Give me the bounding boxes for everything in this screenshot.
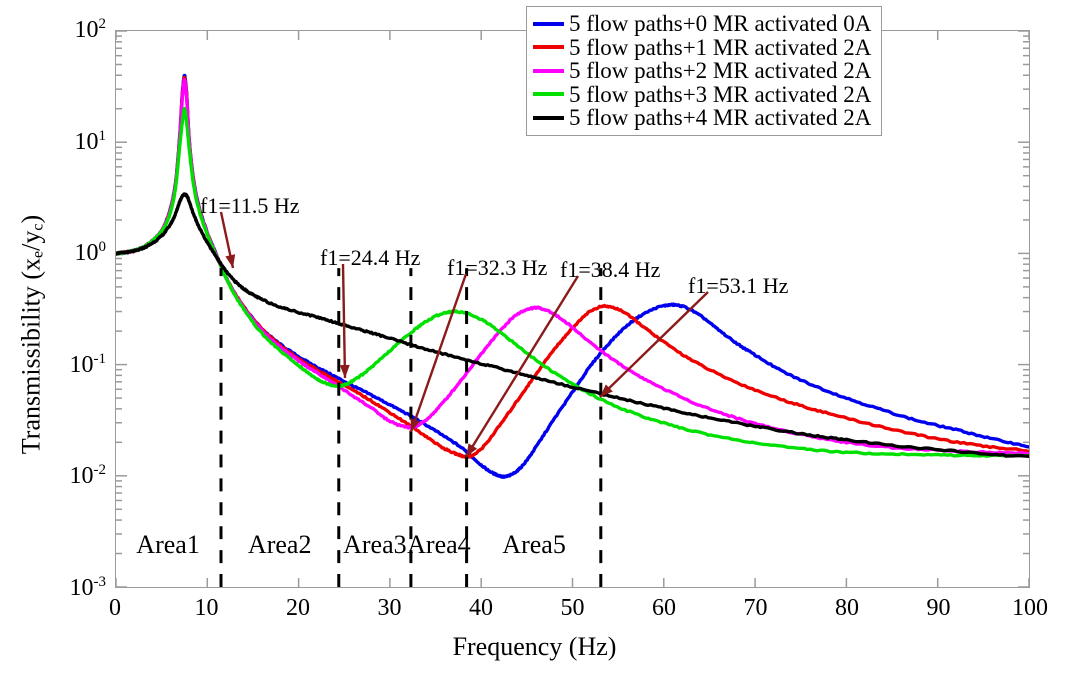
area-label-1: Area1 [136,532,200,558]
annotation-label-3: f1=38.4 Hz [560,259,660,281]
y-tick-label-4: 10-2 [50,463,106,488]
annotation-label-2: f1=32.3 Hz [447,257,547,279]
legend-item-0[interactable]: 5 flow paths+0 MR activated 0A [533,12,871,36]
x-axis-ticks: 0102030405060708090100 [0,596,1069,632]
y-tick-exponent: 1 [99,128,107,144]
y-tick-exponent: -2 [94,462,107,478]
legend-swatch-2 [533,69,564,73]
area-label-4: Area4 [407,532,471,558]
y-axis-label: Transmissibility (xe/yc) [17,135,48,535]
y-axis-label-end: ) [17,215,46,224]
x-tick-label-2: 20 [286,596,310,620]
chart-figure: Transmissibility (xe/yc) 10210110010-110… [0,0,1069,678]
x-tick-label-10: 100 [1012,596,1048,620]
legend-swatch-0 [533,22,564,26]
y-axis-label-sub-e: e [30,251,47,258]
legend-item-2[interactable]: 5 flow paths+2 MR activated 2A [533,59,871,83]
x-tick-label-3: 30 [378,596,402,620]
y-tick-label-3: 10-1 [50,352,106,377]
legend-label-3: 5 flow paths+3 MR activated 2A [569,83,871,106]
y-axis-label-sub-c: c [30,223,47,230]
annotation-label-0: f1=11.5 Hz [200,195,300,217]
x-axis-label: Frequency (Hz) [0,632,1069,662]
x-tick-label-0: 0 [109,596,121,620]
legend-item-3[interactable]: 5 flow paths+3 MR activated 2A [533,83,871,107]
y-tick-label-0: 102 [50,17,106,42]
legend: 5 flow paths+0 MR activated 0A5 flow pat… [526,6,882,136]
x-tick-label-1: 10 [195,596,219,620]
y-tick-label-1: 101 [50,129,106,154]
y-tick-label-2: 100 [50,240,106,265]
legend-label-4: 5 flow paths+4 MR activated 2A [569,106,871,129]
legend-swatch-4 [533,116,564,120]
legend-label-1: 5 flow paths+1 MR activated 2A [569,36,871,59]
area-label-3: Area3 [343,532,407,558]
x-tick-label-5: 50 [561,596,585,620]
legend-item-4[interactable]: 5 flow paths+4 MR activated 2A [533,106,871,130]
x-tick-label-7: 70 [744,596,768,620]
series-line-3 [116,109,1029,457]
y-tick-exponent: 2 [99,16,107,32]
legend-label-0: 5 flow paths+0 MR activated 0A [569,12,871,35]
legend-swatch-3 [533,92,564,96]
area-label-5: Area5 [502,532,566,558]
annotation-label-1: f1=24.4 Hz [320,247,420,269]
legend-item-1[interactable]: 5 flow paths+1 MR activated 2A [533,36,871,60]
y-tick-exponent: -3 [94,574,107,590]
legend-swatch-1 [533,45,564,49]
annotation-label-4: f1=53.1 Hz [688,275,788,297]
y-tick-exponent: 0 [99,239,107,255]
x-tick-label-6: 60 [652,596,676,620]
y-axis-label-text: Transmissibility (x [17,258,46,454]
area-label-2: Area2 [248,532,312,558]
y-tick-exponent: -1 [94,351,107,367]
x-tick-label-8: 80 [835,596,859,620]
legend-label-2: 5 flow paths+2 MR activated 2A [569,59,871,82]
y-axis-label-mid: /y [17,231,46,251]
y-axis-ticks: 10210110010-110-210-3 [46,0,106,678]
x-tick-label-4: 40 [469,596,493,620]
x-tick-label-9: 90 [927,596,951,620]
